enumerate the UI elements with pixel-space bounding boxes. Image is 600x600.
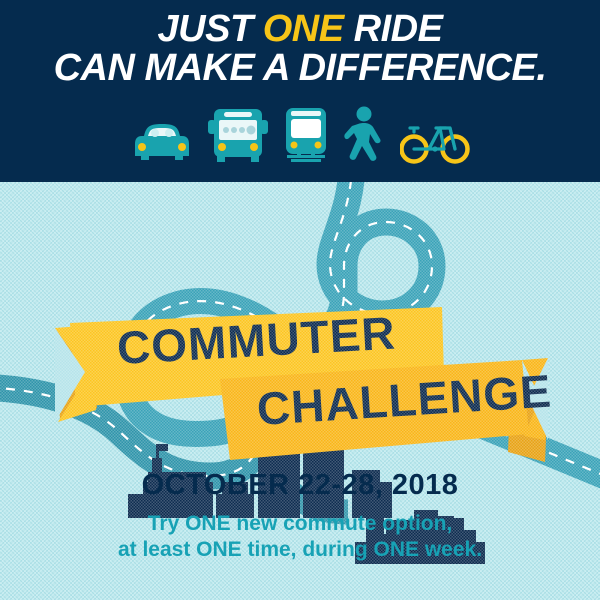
headline-line-2: CAN MAKE A DIFFERENCE. (0, 49, 600, 88)
headline-accent-one: ONE (263, 8, 344, 50)
train-icon (282, 106, 330, 166)
header-band: JUST ONE RIDE CAN MAKE A DIFFERENCE. (0, 0, 600, 182)
tagline-line-2: at least ONE time, during ONE week. (0, 537, 600, 563)
tagline-line-1: Try ONE new commute option, (0, 511, 600, 537)
bus-icon (208, 106, 268, 166)
headline-line-1: JUST ONE RIDE (0, 10, 600, 49)
bicycle-icon (400, 114, 470, 166)
transport-icon-row (0, 106, 600, 166)
headline-pre: JUST (158, 8, 263, 50)
pedestrian-icon (344, 106, 386, 166)
tagline: Try ONE new commute option, at least ONE… (0, 511, 600, 562)
headline: JUST ONE RIDE CAN MAKE A DIFFERENCE. (0, 10, 600, 88)
event-date: OCTOBER 22-28, 2018 (0, 470, 600, 502)
headline-post: RIDE (344, 8, 443, 50)
commuter-challenge-poster: COMMUTER CHALLENGE JUST ONE RIDE CAN MAK… (0, 0, 600, 600)
footer-text-block: OCTOBER 22-28, 2018 Try ONE new commute … (0, 470, 600, 562)
car-icon (130, 114, 194, 166)
